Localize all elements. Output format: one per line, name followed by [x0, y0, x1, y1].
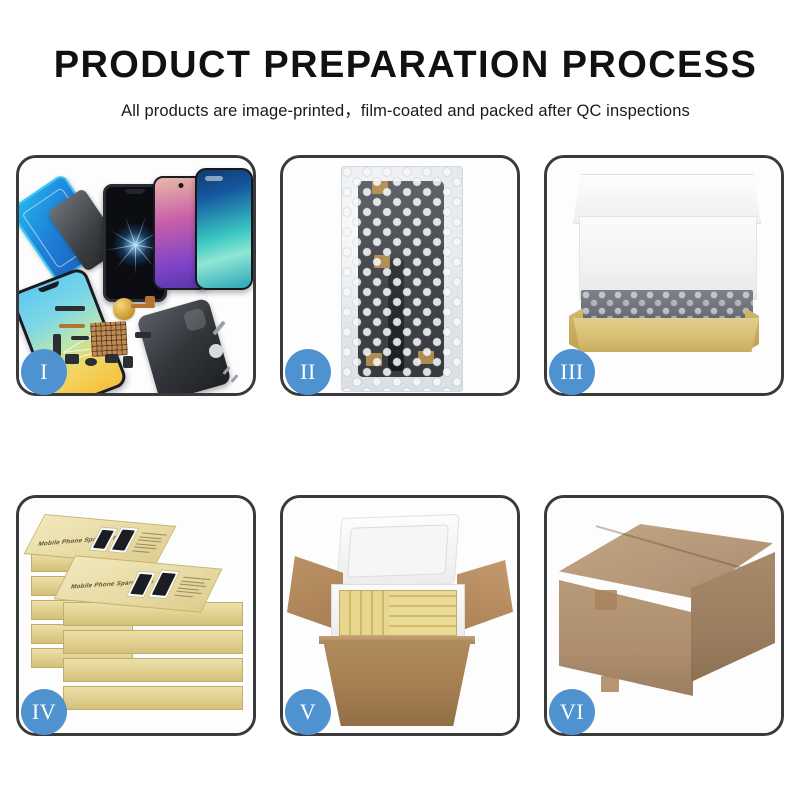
- box-front-wall-icon: [573, 318, 759, 352]
- box-print-textlines: [131, 532, 167, 556]
- step-badge-6: VI: [549, 689, 595, 735]
- step-card-2[interactable]: II: [280, 155, 520, 396]
- carton-body-icon: [323, 640, 471, 726]
- part-strip-icon: [71, 336, 89, 340]
- part-strip-icon: [135, 332, 151, 338]
- box-print-textlines: [173, 577, 210, 601]
- packed-kraft-boxes-icon: [339, 590, 457, 636]
- step-card-4[interactable]: Mobile Phone Spare Parts: [16, 495, 256, 736]
- carton-flap-right-icon: [457, 560, 513, 632]
- connector-grid-icon: [90, 321, 128, 357]
- foam-lid-icon: [336, 514, 459, 588]
- kraft-box-side: [63, 630, 243, 654]
- step-card-5[interactable]: V: [280, 495, 520, 736]
- screw-icon: [230, 374, 238, 383]
- flex-cable-icon: [145, 296, 155, 304]
- process-step-grid: I II: [16, 155, 796, 736]
- step-card-3[interactable]: III: [544, 155, 784, 396]
- phone-screen-teal-icon: [195, 168, 253, 290]
- tool-tip-icon: [209, 344, 223, 358]
- bubble-highlight-texture: [342, 167, 462, 391]
- carton-front-icon: [559, 580, 693, 696]
- step-card-1[interactable]: I: [16, 155, 256, 396]
- kraft-box-side: [63, 658, 243, 682]
- step-badge-5: V: [285, 689, 331, 735]
- part-round-icon: [85, 358, 97, 366]
- page-subtitle: All products are image-printed，film-coat…: [0, 84, 811, 121]
- step-badge-1: I: [21, 349, 67, 395]
- part-block-icon: [105, 354, 118, 363]
- screen-burst-icon: [113, 223, 157, 267]
- carton-tape-icon: [595, 590, 617, 610]
- process-step-row-2: Mobile Phone Spare Parts: [16, 495, 796, 736]
- bubble-wrap-bag-icon: [341, 166, 463, 392]
- product-preparation-page: PRODUCT PREPARATION PROCESS All products…: [0, 0, 811, 811]
- kraft-box-stack-icon: Mobile Phone Spare Parts: [27, 514, 249, 724]
- page-title: PRODUCT PREPARATION PROCESS: [0, 0, 811, 84]
- step-badge-3: III: [549, 349, 595, 395]
- step-card-6[interactable]: VI: [544, 495, 784, 736]
- step-badge-2: II: [285, 349, 331, 395]
- speaker-coil-icon: [113, 298, 135, 320]
- flex-cable-icon: [131, 304, 155, 308]
- process-step-row-1: I II: [16, 155, 796, 396]
- part-block-icon: [65, 354, 79, 364]
- page-header: PRODUCT PREPARATION PROCESS All products…: [0, 0, 811, 121]
- part-strip-icon: [55, 306, 85, 311]
- kraft-box-side: [63, 686, 243, 710]
- part-block-icon: [123, 356, 133, 368]
- carton-tape-icon: [601, 676, 619, 692]
- box-inner-back-icon: [579, 216, 757, 300]
- step-badge-4: IV: [21, 689, 67, 735]
- flex-cable-icon: [59, 324, 85, 328]
